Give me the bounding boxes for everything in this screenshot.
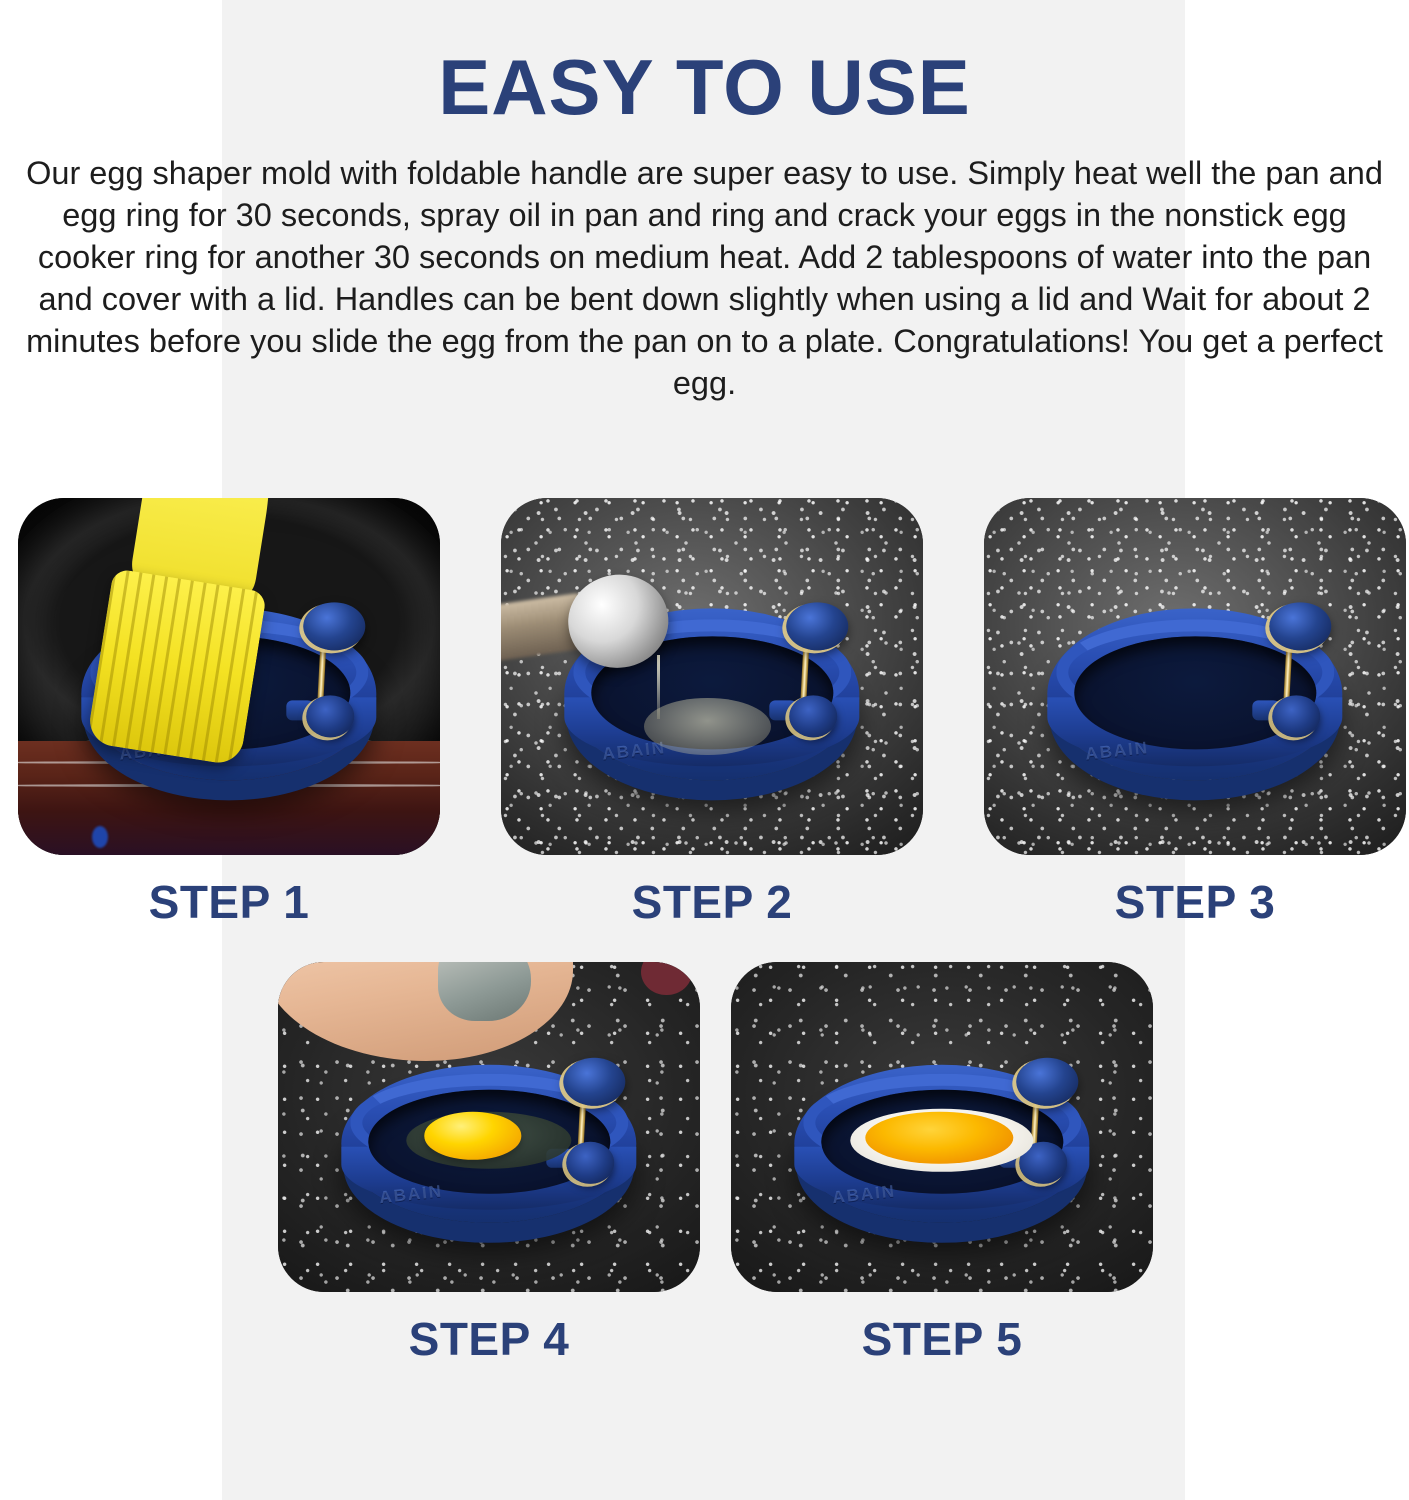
step-card-1[interactable]: ABAIN	[18, 498, 440, 929]
step-card-2[interactable]: ABAIN	[501, 498, 923, 929]
step-2-photo: ABAIN	[501, 498, 923, 855]
infographic-page: EASY TO USE Our egg shaper mold with fol…	[0, 0, 1409, 1500]
handle-knob-top	[304, 602, 366, 650]
silicone-egg-ring: ABAIN	[341, 1064, 636, 1222]
handle-knob-bottom	[307, 696, 355, 738]
handle-knob-top	[787, 602, 849, 650]
handle-knob-top	[564, 1058, 626, 1106]
step-3-photo: ABAIN	[984, 498, 1406, 855]
step-5-label: STEP 5	[731, 1312, 1153, 1366]
step-2-label: STEP 2	[501, 875, 923, 929]
step-1-photo: ABAIN	[18, 498, 440, 855]
instructions-paragraph: Our egg shaper mold with foldable handle…	[10, 152, 1400, 404]
raw-egg-yolk	[424, 1112, 521, 1160]
content-wrapper: EASY TO USE Our egg shaper mold with fol…	[0, 0, 1409, 404]
foldable-handle	[282, 602, 359, 725]
step-3-label: STEP 3	[984, 875, 1406, 929]
step-4-label: STEP 4	[278, 1312, 700, 1366]
cooked-egg-yolk	[865, 1112, 1013, 1164]
step-5-photo: ABAIN	[731, 962, 1153, 1292]
step-1-label: STEP 1	[18, 875, 440, 929]
handle-knob-top	[1270, 602, 1332, 650]
handle-knob-top	[1017, 1058, 1079, 1106]
silicone-egg-ring: ABAIN	[794, 1064, 1089, 1222]
step-card-5[interactable]: ABAIN STEP 5	[731, 962, 1153, 1366]
page-title: EASY TO USE	[0, 0, 1409, 126]
foldable-handle	[1248, 602, 1325, 725]
oil-pool	[644, 698, 771, 755]
silicone-egg-ring: ABAIN	[1047, 609, 1342, 780]
handle-knob-bottom	[1273, 696, 1321, 738]
handle-knob-bottom	[790, 696, 838, 738]
step-card-4[interactable]: ABAIN STEP 4	[278, 962, 700, 1366]
counter-speck	[92, 826, 108, 848]
step-card-3[interactable]: ABAIN STEP 3	[984, 498, 1406, 929]
foldable-handle	[765, 602, 842, 725]
step-4-photo: ABAIN	[278, 962, 700, 1292]
